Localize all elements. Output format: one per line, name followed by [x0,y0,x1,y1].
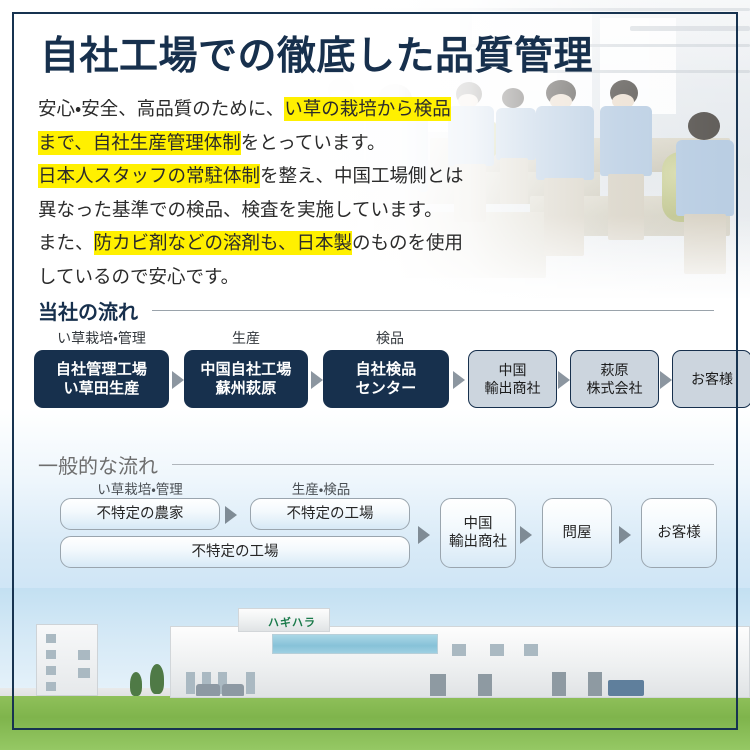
general-flow-step-box: お客様 [641,498,717,568]
our-flow-step-label: い草田生産 [63,379,139,398]
our-flow-diagram: い草栽培・管理生産検品自社管理工場い草田生産中国自社工場蘇州萩原自社検品センター… [34,328,724,408]
window [452,644,466,656]
general-flow-step-box: 問屋 [542,498,612,568]
company-sign: ハギハラ [268,614,316,630]
our-flow-step-box: お客様 [672,350,750,408]
flow-arrow-icon [225,506,237,524]
truck [608,680,644,696]
our-flow-step-box: 萩原株式会社 [570,350,659,408]
general-flow-step-label: 輸出商社 [449,533,507,551]
loading-door [588,672,602,696]
flow-arrow-icon [453,371,465,389]
body-text: をとっています。 [241,132,386,153]
highlighted-text: い草の栽培から検品 [284,97,451,121]
body-copy-line: また、防カビ剤などの溶剤も、日本製のものを使用 [38,226,508,260]
car [222,684,244,696]
general-flow-step-label: 不特定の工場 [192,543,279,561]
loading-door [478,674,492,696]
window [46,682,56,691]
window [78,668,90,678]
body-copy-line: 異なった基準での検品、検査を実施しています。 [38,193,508,227]
general-flow-step-box: 不特定の工場 [250,498,410,530]
window [46,666,56,675]
section-title-general-flow: 一般的な流れ [38,450,158,479]
window [524,644,538,656]
window [246,672,255,694]
body-text: また、 [38,232,94,253]
window [78,650,90,660]
general-flow-step-box: 不特定の農家 [60,498,220,530]
our-flow-step-box: 中国自社工場蘇州萩原 [184,350,308,408]
loading-door [552,672,566,696]
tree [130,672,142,696]
page-canvas: 自社工場での徹底した品質管理 安心・安全、高品質のために、い草の栽培から検品まで… [0,0,750,750]
tree [150,664,164,694]
our-flow-step-label: 中国 [499,361,527,379]
flow-arrow-icon [619,526,631,544]
our-flow-step-box: 中国輸出商社 [468,350,557,408]
general-flow-step-box: 中国輸出商社 [440,498,516,568]
highlighted-text: 自社生産管理体制 [93,131,241,155]
our-flow-step-label: 蘇州萩原 [216,379,277,398]
our-flow-step-label: センター [356,379,417,398]
our-flow-caption: 生産 [184,328,308,348]
general-flow-step-label: 中国 [464,515,493,533]
highlighted-text: まで、 [38,131,93,155]
window [186,672,195,694]
flow-arrow-icon [660,371,672,389]
our-flow-step-box: 自社検品センター [323,350,449,408]
body-text: しているので安心です。 [38,266,239,287]
general-flow-step-label: 不特定の工場 [287,505,374,523]
general-flow-wide-box: 不特定の工場 [60,536,410,568]
body-text: を整え、中国工場側とは [260,165,464,186]
flow-arrow-icon [558,371,570,389]
our-flow-step-label: 萩原 [601,361,629,379]
grass-lawn [0,696,750,750]
our-flow-step-label: 中国自社工場 [200,360,291,379]
body-copy-line: まで、自社生産管理体制をとっています。 [38,126,508,160]
section-header-our-flow: 当社の流れ [38,296,714,325]
general-flow-step-label: お客様 [657,524,701,542]
window [46,634,56,643]
section-rule [172,464,714,465]
body-text: 安心・安全、高品質のために、 [38,98,284,119]
our-flow-step-label: 輸出商社 [485,379,541,397]
our-flow-step-label: 自社管理工場 [56,360,147,379]
general-flow-caption: 生産・検品 [250,478,392,498]
highlighted-text: 防カビ剤などの溶剤も、 [94,231,297,255]
general-flow-step-label: 不特定の農家 [97,505,184,523]
window [46,650,56,659]
our-flow-step-label: 自社検品 [356,360,417,379]
general-flow-step-label: 問屋 [563,524,592,542]
car [196,684,220,696]
our-flow-step-label: 株式会社 [587,379,643,397]
body-copy-line: 安心・安全、高品質のために、い草の栽培から検品 [38,92,508,126]
body-text: 異なった基準での検品、検査を実施しています。 [38,199,443,220]
loading-door [430,674,446,696]
window [490,644,504,656]
section-title-our-flow: 当社の流れ [38,296,138,325]
our-flow-step-box: 自社管理工場い草田生産 [34,350,169,408]
general-flow-diagram: い草栽培・管理生産・検品不特定の農家不特定の工場不特定の工場中国輸出商社問屋お客… [34,478,724,574]
flow-arrow-icon [520,526,532,544]
section-rule [152,310,714,311]
body-copy-line: しているので安心です。 [38,260,508,294]
flow-arrow-icon [172,371,184,389]
highlighted-text: 日本製 [296,231,352,255]
body-text: のものを使用 [352,232,463,253]
our-flow-caption: い草栽培・管理 [34,328,169,348]
page-title: 自社工場での徹底した品質管理 [40,34,640,80]
our-flow-step-label: お客様 [691,370,733,388]
flow-arrow-icon [311,371,323,389]
flow-arrow-icon [418,526,430,544]
factory-exterior-photo: ハギハラ [0,588,750,750]
body-copy: 安心・安全、高品質のために、い草の栽培から検品まで、自社生産管理体制をとっていま… [38,92,508,293]
our-flow-caption: 検品 [330,328,450,348]
main-factory-building [170,626,750,698]
glass-facade [272,634,438,654]
body-copy-line: 日本人スタッフの常駐体制を整え、中国工場側とは [38,159,508,193]
highlighted-text: 日本人スタッフの常駐体制 [38,164,260,188]
section-header-general-flow: 一般的な流れ [38,450,714,479]
general-flow-caption: い草栽培・管理 [60,478,220,498]
